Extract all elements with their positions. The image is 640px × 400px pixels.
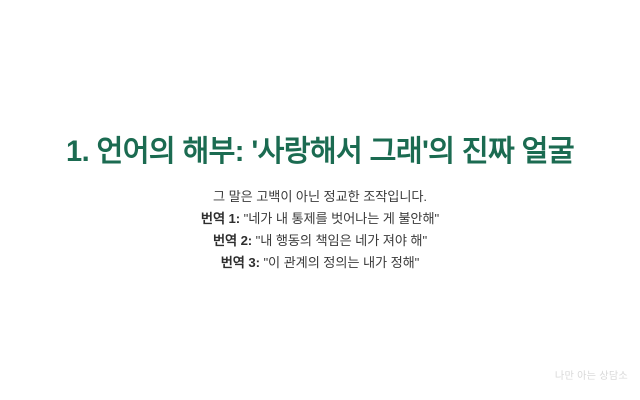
body-line-translation-1: 번역 1: "네가 내 통제를 벗어나는 게 불안해": [0, 208, 640, 230]
body-line-label: 번역 1:: [201, 211, 240, 226]
body-copy-block: 그 말은 고백이 아닌 정교한 조작입니다. 번역 1: "네가 내 통제를 벗…: [0, 186, 640, 274]
body-line-text: "네가 내 통제를 벗어나는 게 불안해": [244, 211, 439, 226]
body-line-text: "이 관계의 정의는 내가 정해": [263, 255, 419, 270]
brand-watermark: 나만 아는 상담소: [555, 370, 628, 383]
body-line-summary: 그 말은 고백이 아닌 정교한 조작입니다.: [0, 186, 640, 208]
headline-block: 1. 언어의 해부: '사랑해서 그래'의 진짜 얼굴: [0, 133, 640, 171]
page-title: 1. 언어의 해부: '사랑해서 그래'의 진짜 얼굴: [5, 133, 635, 171]
body-line-translation-3: 번역 3: "이 관계의 정의는 내가 정해": [0, 252, 640, 274]
body-line-text: 그 말은 고백이 아닌 정교한 조작입니다.: [213, 189, 427, 204]
body-line-text: "내 행동의 책임은 네가 져야 해": [256, 233, 427, 248]
body-line-label: 번역 3:: [221, 255, 260, 270]
body-line-translation-2: 번역 2: "내 행동의 책임은 네가 져야 해": [0, 230, 640, 252]
body-line-label: 번역 2:: [213, 233, 252, 248]
slide-card: 1. 언어의 해부: '사랑해서 그래'의 진짜 얼굴 그 말은 고백이 아닌 …: [0, 0, 640, 400]
